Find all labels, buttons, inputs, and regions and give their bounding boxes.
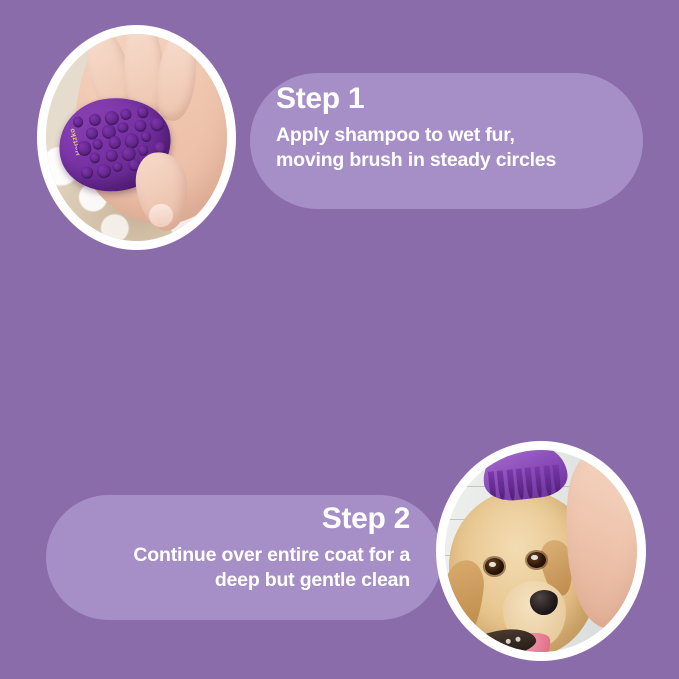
brush-nub (149, 116, 165, 132)
brush-nub (96, 163, 112, 179)
step-1-photo-image: Hertzko (46, 34, 227, 241)
brush-nub (72, 116, 84, 128)
brush-nub (136, 106, 150, 120)
brush-nub (117, 122, 129, 134)
step-row-2: Step 2 Continue over entire coat for a d… (0, 218, 679, 450)
step-1-description: Apply shampoo to wet fur, moving brush i… (276, 123, 626, 174)
brush-nub (88, 113, 102, 127)
step-1-photo: Hertzko (37, 25, 236, 250)
brush-nub (89, 152, 101, 164)
step-1-text-block: Step 1 Apply shampoo to wet fur, moving … (276, 82, 626, 174)
step-row-3: Step 3 Continue while rinsing for a circ… (0, 425, 679, 679)
brush-nub (108, 136, 122, 150)
brush-nub (137, 144, 149, 156)
brush-nub (120, 108, 132, 120)
brush-nub (112, 161, 124, 173)
grooming-steps-infographic: Step 1 Apply shampoo to wet fur, moving … (0, 0, 679, 679)
step-1-description-line-2: moving brush in steady circles (276, 148, 626, 174)
brush-nub (140, 131, 152, 143)
brush-nub (92, 138, 104, 150)
step-1-title: Step 1 (276, 82, 626, 117)
step-1-description-line-1: Apply shampoo to wet fur, (276, 123, 626, 149)
brush-nub (80, 166, 94, 180)
